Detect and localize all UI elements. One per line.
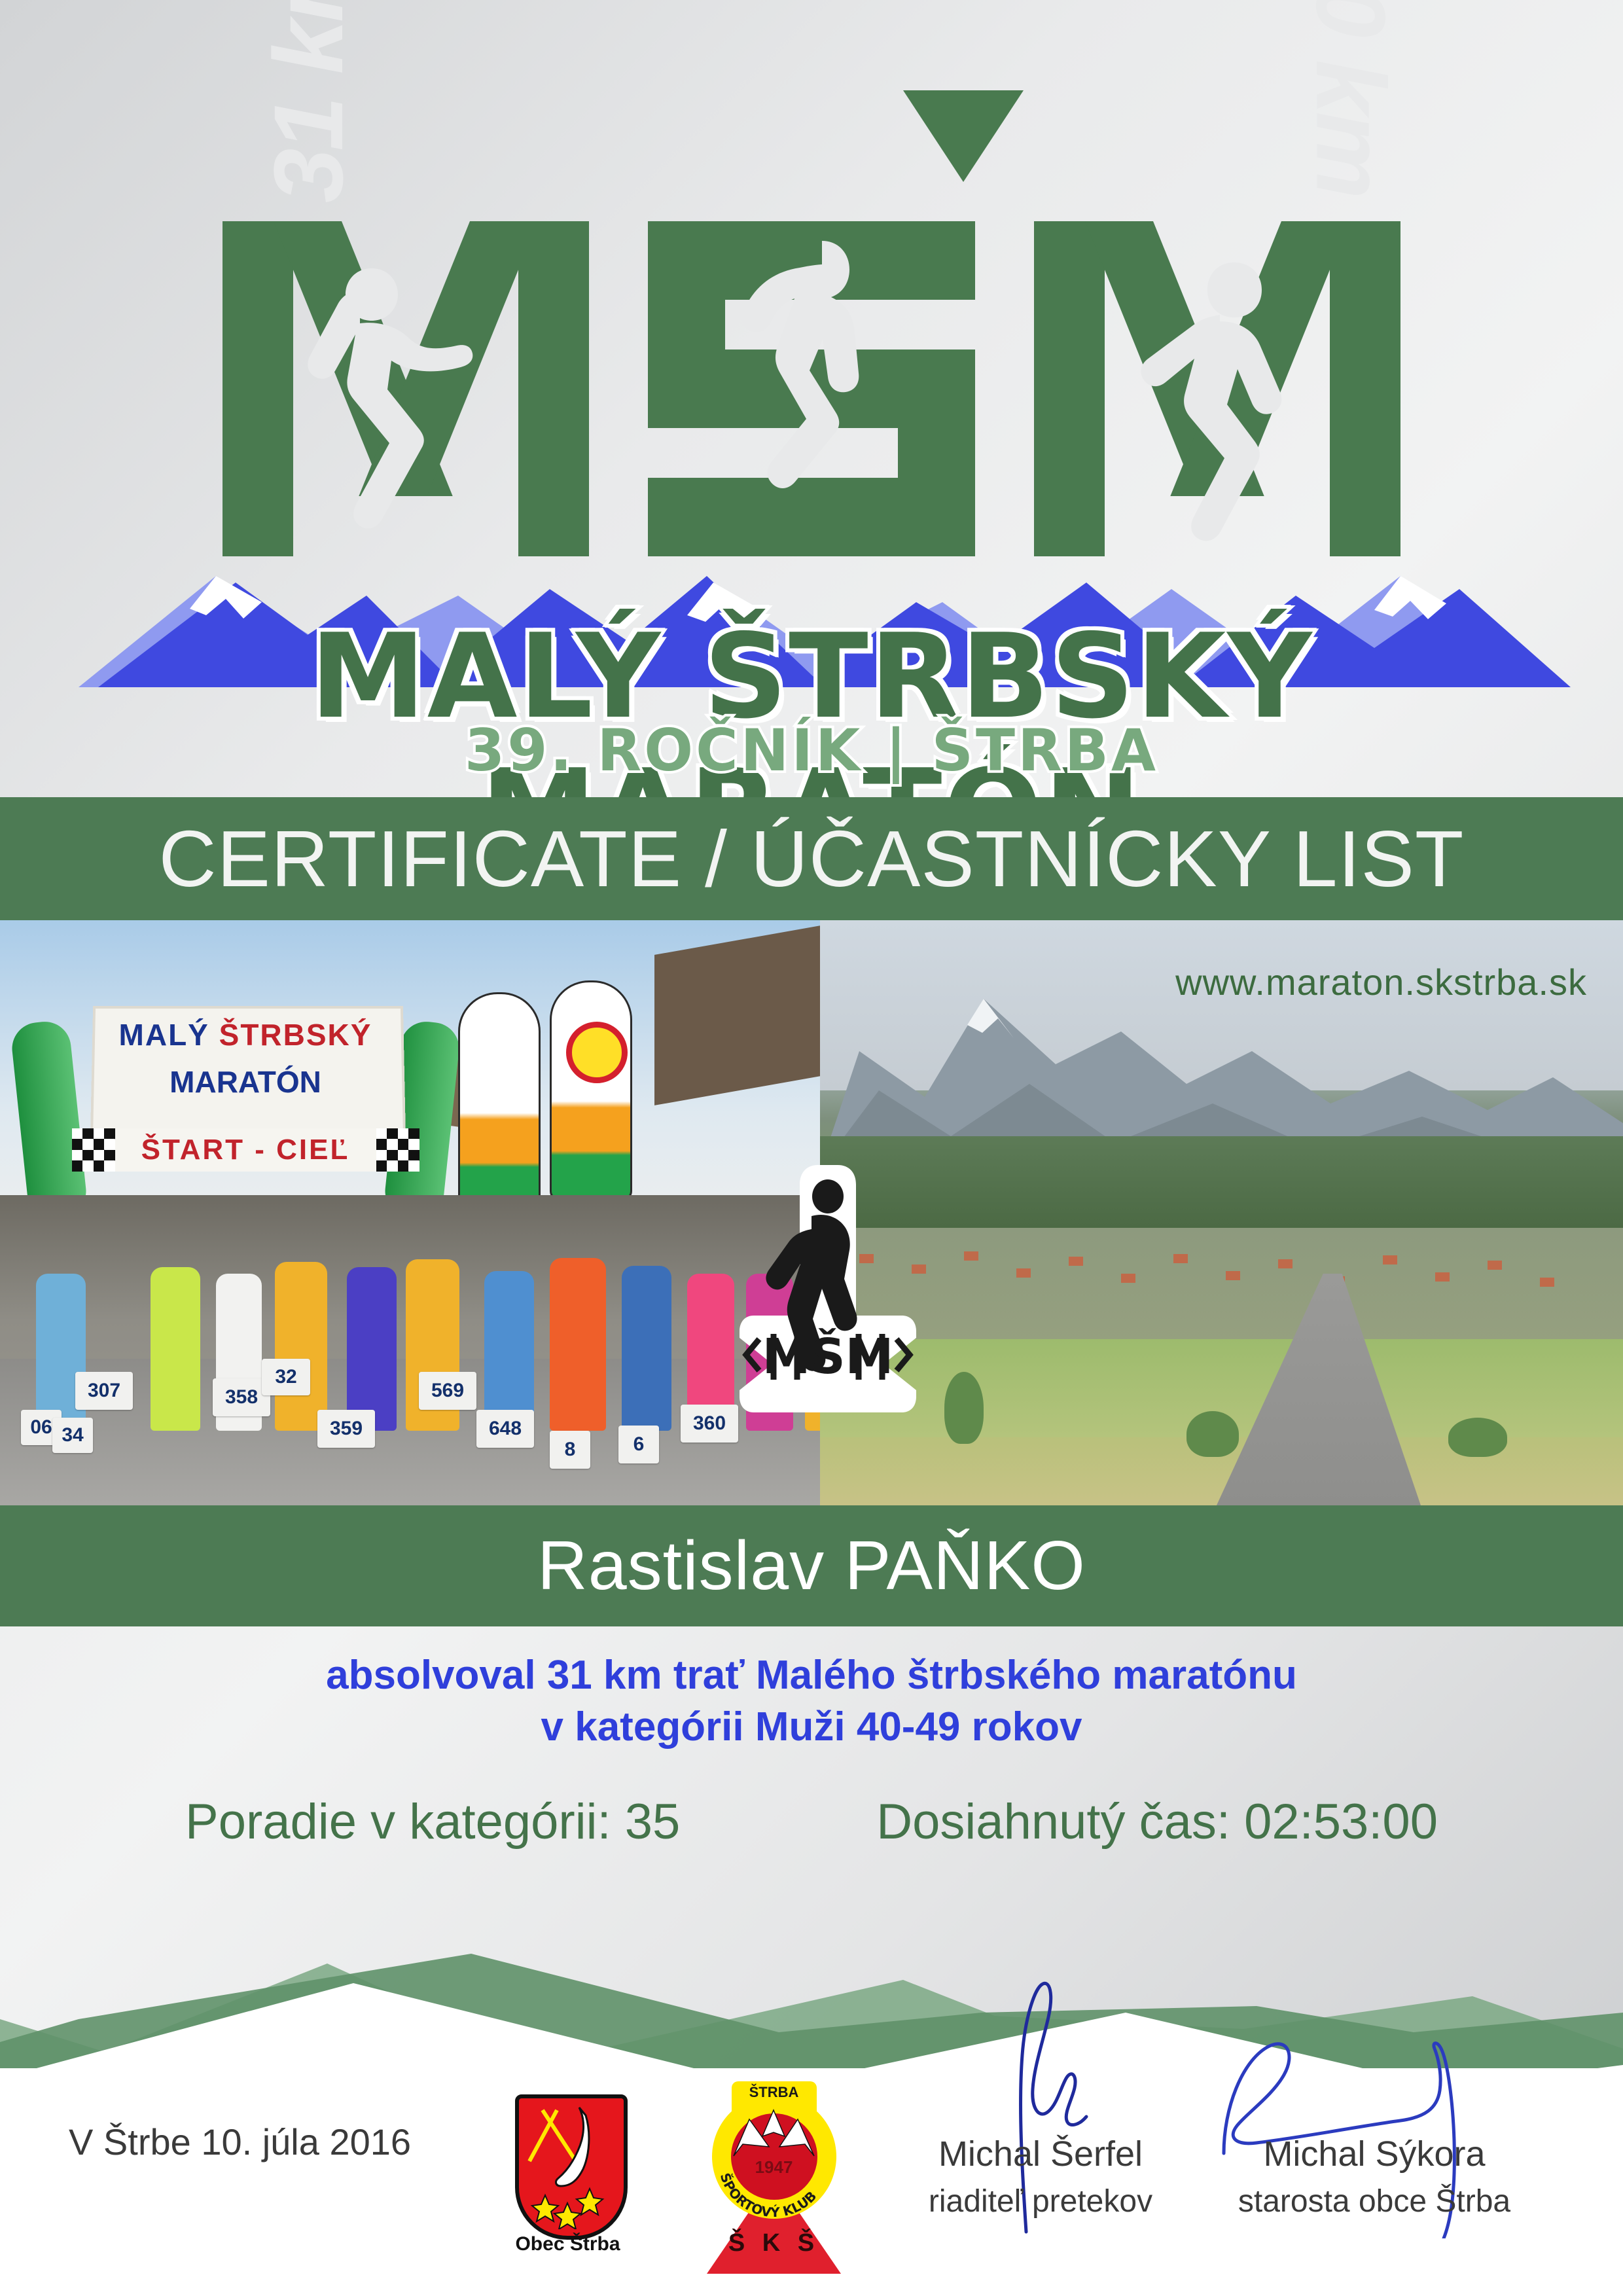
sks-badge-icon xyxy=(566,1022,628,1083)
photo-course-landscape: www.maraton.skstrba.sk xyxy=(820,920,1623,1509)
mascot-text: MŠM xyxy=(762,1327,894,1385)
signature-role: riaditeľ pretekov xyxy=(870,2183,1211,2219)
runner-figure xyxy=(484,1271,534,1431)
svg-text:ŠPORTOVÝ KLUB: ŠPORTOVÝ KLUB xyxy=(717,2171,820,2220)
runner-silhouette-left-icon xyxy=(262,260,537,562)
certificate-page: 31 km 10 km MALÝ ŠTRBSKÝ MARATÓN 39. ROČ… xyxy=(0,0,1623,2296)
website-url[interactable]: www.maraton.skstrba.sk xyxy=(1175,961,1587,1003)
bib-number: 359 xyxy=(317,1410,375,1448)
logo-letter-m-right xyxy=(1034,221,1400,556)
detail-line-1: absolvoval 31 km trať Malého štrbského m… xyxy=(0,1649,1623,1701)
runner-silhouette-right-icon xyxy=(1080,257,1355,558)
tree-icon xyxy=(1186,1411,1239,1457)
photo-start-line: MALÝ ŠTRBSKÝ MARATÓN ŠTART - CIEĽ xyxy=(0,920,820,1509)
finish-time: Dosiahnutý čas: 02:53:00 xyxy=(876,1793,1438,1850)
sks-club-logo: ŠTRBA 1947 ŠPORTOVÝ KLUB Š K Š xyxy=(694,2080,854,2276)
msm-mascot-badge: MŠM xyxy=(740,1165,916,1446)
detail-line-2: v kategórii Muži 40-49 rokov xyxy=(0,1701,1623,1753)
arch-text-line2: MARATÓN xyxy=(98,1064,393,1100)
arch-text-line1: MALÝ ŠTRBSKÝ xyxy=(98,1017,393,1052)
runner-figure xyxy=(347,1267,397,1431)
issue-date: V Štrbe 10. júla 2016 xyxy=(69,2121,411,2163)
bib-number: 34 xyxy=(52,1418,93,1453)
checker-flag-left-icon xyxy=(72,1128,115,1172)
crest-figure-icon xyxy=(519,2098,617,2229)
bib-number: 569 xyxy=(419,1372,476,1410)
start-arch: MALÝ ŠTRBSKÝ MARATÓN ŠTART - CIEĽ xyxy=(13,986,458,1202)
runner-figure xyxy=(550,1258,606,1431)
category-rank-value: 35 xyxy=(625,1794,681,1850)
participant-name-band: Rastislav PAŇKO xyxy=(0,1505,1623,1626)
arch-word-maly: MALÝ xyxy=(119,1018,209,1052)
achievement-details: absolvoval 31 km trať Malého štrbského m… xyxy=(0,1649,1623,1753)
obec-strba-crest: Obec Štrba xyxy=(507,2094,628,2261)
tree-icon xyxy=(944,1372,984,1444)
arch-leg-left xyxy=(10,1019,89,1221)
signature-role: starosta obce Štrba xyxy=(1204,2183,1544,2219)
rooftop xyxy=(654,925,820,1105)
runner-figure xyxy=(151,1267,200,1431)
bib-number: 6 xyxy=(618,1426,659,1463)
bib-number: 648 xyxy=(476,1410,534,1448)
sks-arc-text: ŠPORTOVÝ KLUB xyxy=(694,2080,854,2240)
finish-time-label: Dosiahnutý čas: xyxy=(876,1794,1230,1850)
bib-number: 8 xyxy=(550,1431,590,1469)
crest-label: Obec Štrba xyxy=(507,2233,628,2255)
certificate-title: CERTIFICATE / ÚČASTNÍCKY LIST xyxy=(159,813,1465,905)
runner-silhouette-center-icon xyxy=(700,237,923,551)
signature-name: Michal Sýkora xyxy=(1204,2134,1544,2174)
distance-left-label: 31 km xyxy=(252,0,365,203)
category-rank-label: Poradie v kategórii: xyxy=(185,1794,611,1850)
runner-figure xyxy=(275,1262,327,1431)
sks-arc-label: ŠPORTOVÝ KLUB xyxy=(717,2171,820,2220)
logo-header: 31 km 10 km MALÝ ŠTRBSKÝ MARATÓN 39. ROČ… xyxy=(0,0,1623,795)
participant-name: Rastislav PAŇKO xyxy=(537,1526,1086,1605)
sub-wordmark: 39. ROČNÍK | ŠTRBA xyxy=(0,717,1623,784)
distance-right-label: 10 km xyxy=(1294,0,1407,196)
bib-number: 360 xyxy=(681,1405,738,1443)
checker-flag-right-icon xyxy=(376,1128,419,1172)
signature-name: Michal Šerfel xyxy=(870,2134,1211,2174)
arch-word-strbsky: ŠTRBSKÝ xyxy=(219,1018,372,1052)
crest-shield-icon xyxy=(515,2094,628,2240)
caron-accent-icon xyxy=(903,90,1024,182)
arch-start-finish-text: ŠTART - CIEĽ xyxy=(79,1128,412,1172)
bib-number: 307 xyxy=(75,1372,133,1410)
results-row: Poradie v kategórii: 35 Dosiahnutý čas: … xyxy=(0,1793,1623,1850)
finish-time-value: 02:53:00 xyxy=(1244,1794,1438,1850)
runner-figure xyxy=(622,1266,671,1431)
certificate-title-band: CERTIFICATE / ÚČASTNÍCKY LIST xyxy=(0,797,1623,920)
logo-letter-m-left xyxy=(223,221,589,556)
bib-number: 32 xyxy=(262,1359,310,1395)
sks-abbr: Š K Š xyxy=(694,2229,854,2257)
category-rank: Poradie v kategórii: 35 xyxy=(185,1793,680,1850)
feather-flag-tatry xyxy=(458,992,541,1212)
logo-letter-s xyxy=(648,221,975,556)
village-houses xyxy=(820,1228,1623,1346)
footer: V Štrbe 10. júla 2016 Obec Štrba xyxy=(0,2068,1623,2296)
arch-word-maraton: MARATÓN xyxy=(169,1065,321,1099)
feather-flag-sks xyxy=(550,980,632,1200)
tree-icon xyxy=(1448,1418,1507,1457)
